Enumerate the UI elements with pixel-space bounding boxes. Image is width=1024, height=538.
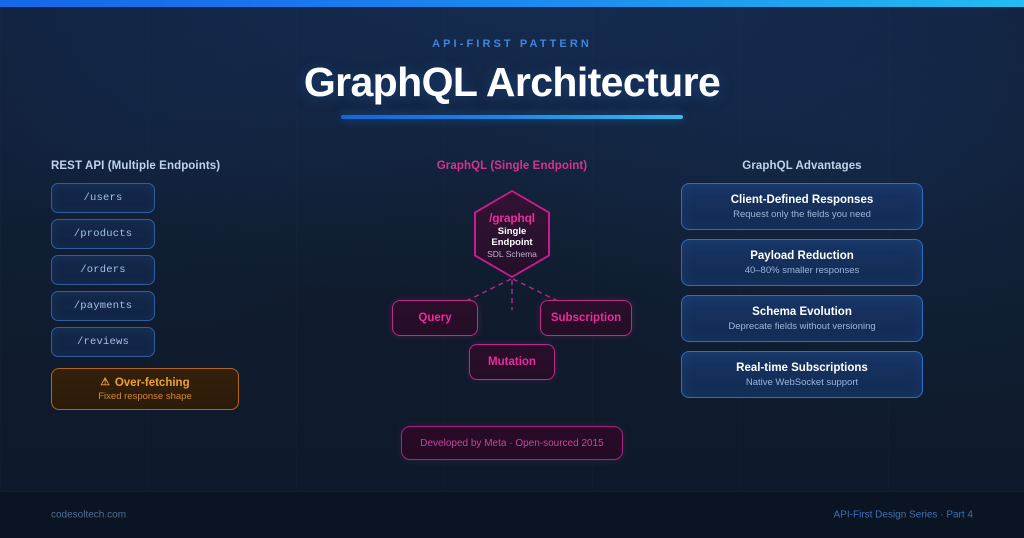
hexagon-title: Single Endpoint (476, 226, 548, 248)
advantages-heading: GraphQL Advantages (681, 160, 923, 172)
hexagon-inner: /graphql Single Endpoint SDL Schema (476, 192, 548, 276)
warning-triangle-icon: ⚠ (100, 377, 109, 388)
operation-box-subscription[interactable]: Subscription (540, 300, 632, 336)
hexagon-subtitle: SDL Schema (487, 249, 537, 259)
warning-subtitle: Fixed response shape (98, 391, 191, 402)
top-accent-bar (0, 0, 1024, 7)
page-title: GraphQL Architecture (0, 59, 1024, 106)
advantage-title: Real-time Subscriptions (736, 362, 868, 374)
endpoint-pill-reviews[interactable]: /reviews (51, 327, 155, 357)
endpoint-pill-products[interactable]: /products (51, 219, 155, 249)
endpoint-label: /users (83, 192, 122, 204)
rest-api-heading: REST API (Multiple Endpoints) (51, 160, 239, 172)
slide-canvas: API-FIRST PATTERN GraphQL Architecture R… (0, 0, 1024, 538)
eyebrow-label: API-FIRST PATTERN (0, 38, 1024, 50)
rest-api-column: REST API (Multiple Endpoints) /users /pr… (51, 160, 239, 410)
advantage-title: Client-Defined Responses (731, 194, 874, 206)
advantage-card-payload-reduction[interactable]: Payload Reduction 40–80% smaller respons… (681, 239, 923, 286)
advantage-card-schema-evolution[interactable]: Schema Evolution Deprecate fields withou… (681, 295, 923, 342)
footer-site-label[interactable]: codesoltech.com (51, 510, 126, 521)
graphql-heading: GraphQL (Single Endpoint) (392, 160, 632, 172)
graphql-endpoint-diagram: /graphql Single Endpoint SDL Schema (392, 190, 632, 310)
endpoint-label: /reviews (77, 336, 129, 348)
operation-label: Subscription (551, 312, 621, 324)
advantage-subtitle: Request only the fields you need (733, 209, 871, 220)
endpoint-pill-payments[interactable]: /payments (51, 291, 155, 321)
operation-label: Mutation (488, 356, 536, 368)
title-underline (341, 115, 683, 119)
advantage-card-real-time-subscriptions[interactable]: Real-time Subscriptions Native WebSocket… (681, 351, 923, 398)
endpoint-label: /orders (80, 264, 126, 276)
operations-row: Query Subscription (392, 300, 632, 338)
advantage-title: Schema Evolution (752, 306, 852, 318)
meta-note-label: Developed by Meta · Open-sourced 2015 (420, 438, 603, 449)
advantage-title: Payload Reduction (750, 250, 854, 262)
endpoint-label: /payments (74, 300, 133, 312)
footer-series-label: API-First Design Series · Part 4 (834, 510, 973, 521)
warning-title-row: ⚠ Over-fetching (100, 377, 189, 389)
meta-note-pill: Developed by Meta · Open-sourced 2015 (401, 426, 623, 460)
endpoint-pill-users[interactable]: /users (51, 183, 155, 213)
warning-title: Over-fetching (115, 377, 190, 389)
footer-bar: codesoltech.com API-First Design Series … (0, 491, 1024, 538)
operation-box-mutation[interactable]: Mutation (469, 344, 555, 380)
advantage-subtitle: Native WebSocket support (746, 377, 858, 388)
advantages-column: GraphQL Advantages Client-Defined Respon… (681, 160, 923, 407)
endpoint-pill-orders[interactable]: /orders (51, 255, 155, 285)
graphql-column: GraphQL (Single Endpoint) /graphql Singl… (392, 160, 632, 460)
header: API-FIRST PATTERN GraphQL Architecture (0, 38, 1024, 119)
endpoint-label: /products (74, 228, 133, 240)
advantage-card-client-defined-responses[interactable]: Client-Defined Responses Request only th… (681, 183, 923, 230)
operation-box-query[interactable]: Query (392, 300, 478, 336)
hexagon-endpoint-path: /graphql (489, 211, 535, 225)
advantage-subtitle: Deprecate fields without versioning (728, 321, 875, 332)
advantage-subtitle: 40–80% smaller responses (745, 265, 860, 276)
operation-label: Query (418, 312, 451, 324)
over-fetching-warning-box: ⚠ Over-fetching Fixed response shape (51, 368, 239, 410)
graphql-hexagon[interactable]: /graphql Single Endpoint SDL Schema (474, 190, 550, 278)
